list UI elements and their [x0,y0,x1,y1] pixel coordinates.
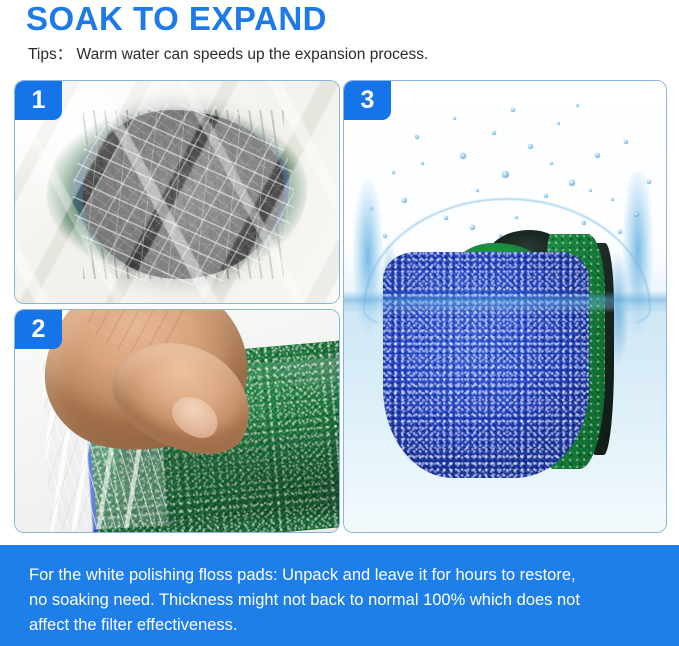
footer-banner: For the white polishing floss pads: Unpa… [0,545,679,646]
water-droplet [383,234,387,238]
step-3-photo [344,81,666,532]
water-droplet [589,189,592,192]
footer-line-3: affect the filter effectiveness. [29,613,649,638]
step-2-photo [15,310,339,532]
footer-line-1: For the white polishing floss pads: Unpa… [29,563,649,588]
water-droplet [470,225,475,230]
water-droplet [647,180,651,184]
water-droplet [624,140,628,144]
step-panel-2: 2 [14,309,340,533]
water-droplet [618,230,622,234]
water-droplet [544,194,548,198]
step-panel-3: 3 [343,80,667,533]
water-droplet [557,122,560,125]
water-droplet [576,104,579,107]
plastic-sheen [15,81,339,303]
water-droplet [415,135,419,139]
step-badge-2: 2 [15,310,62,349]
step-1-photo [15,81,339,303]
tips-line: Tips： Warm water can speeds up the expan… [28,44,428,66]
step-panel-1: 1 [14,80,340,304]
blue-sponge-texture [383,252,589,478]
page-title: SOAK TO EXPAND [26,0,327,38]
footer-line-2: no soaking need. Thickness might not bac… [29,588,649,613]
water-surface-line [344,291,666,314]
water-droplet [634,212,639,217]
water-droplet [528,144,533,149]
water-droplet [492,131,496,135]
step-badge-3: 3 [344,81,391,120]
step-badge-1: 1 [15,81,62,120]
blue-sponge-submerged [383,252,589,478]
water-droplet [502,171,509,178]
